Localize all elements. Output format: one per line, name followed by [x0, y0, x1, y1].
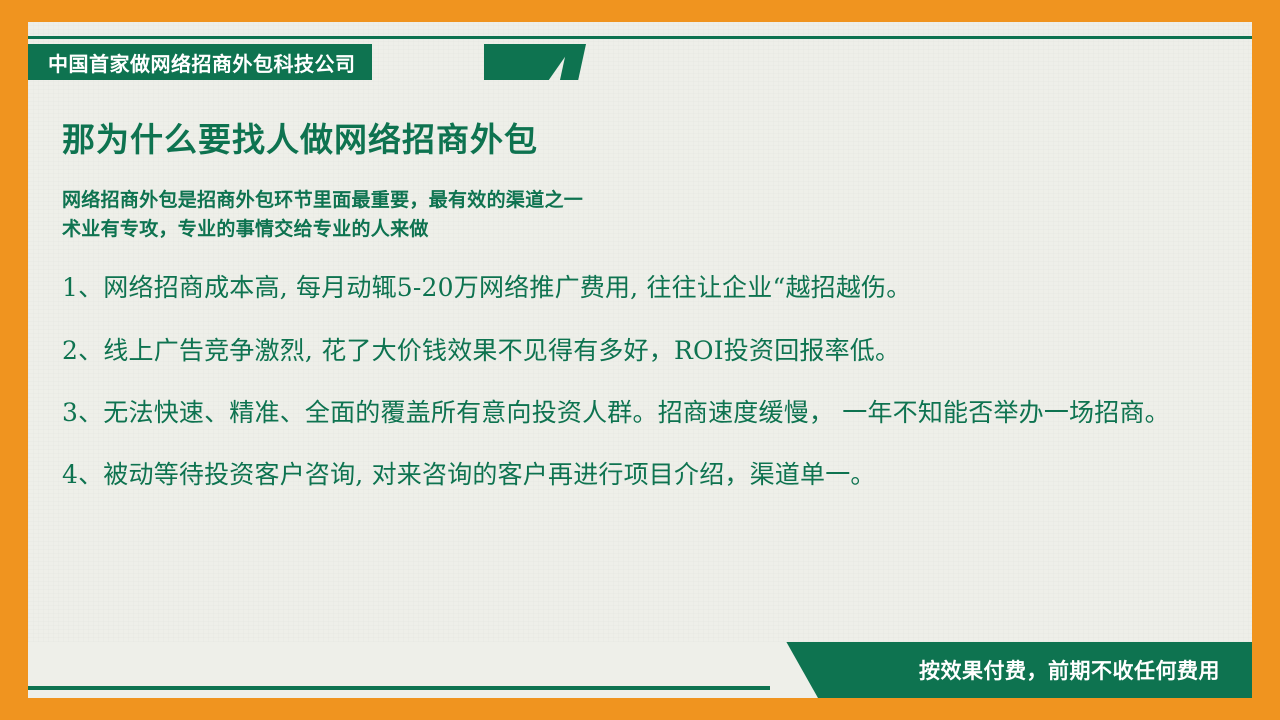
- header-banner: 中国首家做网络招商外包科技公司: [28, 44, 372, 80]
- footer-accent-rule: [28, 686, 770, 690]
- slide-content: 那为什么要找人做网络招商外包 网络招商外包是招商外包环节里面最重要，最有效的渠道…: [62, 120, 1222, 519]
- subtitle-block: 网络招商外包是招商外包环节里面最重要，最有效的渠道之一 术业有专攻，专业的事情交…: [62, 186, 1222, 245]
- subtitle-line-1: 网络招商外包是招商外包环节里面最重要，最有效的渠道之一: [62, 186, 1222, 215]
- header-banner-label: 中国首家做网络招商外包科技公司: [48, 48, 356, 77]
- bullet-list: 1、网络招商成本高, 每月动辄5-20万网络推广费用, 往往让企业“越招越伤。 …: [62, 270, 1222, 493]
- page-title: 那为什么要找人做网络招商外包: [62, 120, 1222, 160]
- top-divider-rule: [28, 36, 1252, 39]
- subtitle-line-2: 术业有专攻，专业的事情交给专业的人来做: [62, 215, 1222, 244]
- list-item: 1、网络招商成本高, 每月动辄5-20万网络推广费用, 往往让企业“越招越伤。: [62, 270, 1222, 306]
- list-item: 3、无法快速、精准、全面的覆盖所有意向投资人群。招商速度缓慢， 一年不知能否举办…: [62, 395, 1222, 431]
- list-item: 4、被动等待投资客户咨询, 对来咨询的客户再进行项目介绍，渠道单一。: [62, 457, 1222, 493]
- slide: 中国首家做网络招商外包科技公司 那为什么要找人做网络招商外包 网络招商外包是招商…: [0, 0, 1280, 720]
- list-item: 2、线上广告竞争激烈, 花了大价钱效果不见得有多好，ROI投资回报率低。: [62, 333, 1222, 369]
- footer-label: 按效果付费，前期不收任何费用: [919, 642, 1220, 698]
